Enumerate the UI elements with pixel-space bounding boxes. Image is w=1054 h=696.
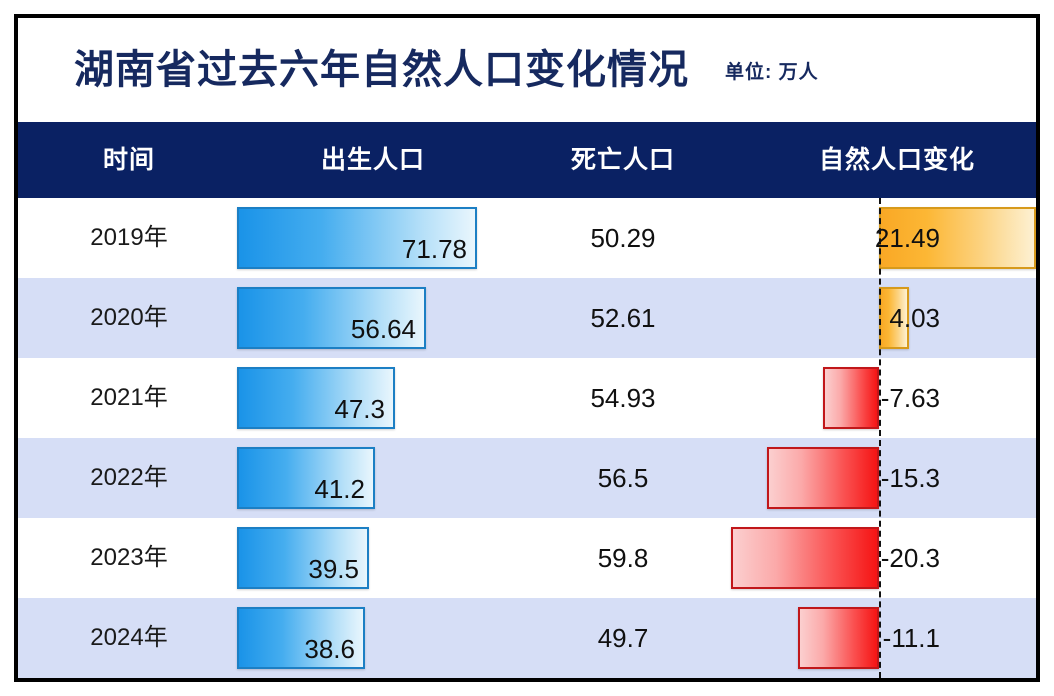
net-bar-negative [823,367,879,429]
column-header-net: 自然人口变化 [758,122,1036,198]
net-value: -15.3 [881,438,940,518]
cell-net: 21.49 [18,198,1036,278]
title-band: 湖南省过去六年自然人口变化情况 单位: 万人 [18,18,1036,122]
net-value: 21.49 [875,198,940,278]
table-row: 2023年 39.5 59.8 -20.3 [18,518,1036,598]
cell-net: 4.03 [18,278,1036,358]
net-value: 4.03 [889,278,940,358]
net-bar-negative [767,447,879,509]
column-header-time: 时间 [34,122,224,198]
net-bar-negative [731,527,879,589]
net-bar-negative [798,607,879,669]
column-header-death: 死亡人口 [498,122,748,198]
page-title: 湖南省过去六年自然人口变化情况 [74,50,689,90]
table-row: 2024年 38.6 49.7 -11.1 [18,598,1036,678]
cell-net: -15.3 [18,438,1036,518]
column-header-birth: 出生人口 [238,122,508,198]
table-header-row: 时间 出生人口 死亡人口 自然人口变化 [18,122,1036,198]
net-value: -11.1 [883,598,940,678]
table-row: 2019年 71.78 50.29 21.49 [18,198,1036,278]
net-value: -20.3 [881,518,940,598]
table-row: 2022年 41.2 56.5 -15.3 [18,438,1036,518]
table-row: 2021年 47.3 54.93 -7.63 [18,358,1036,438]
cell-net: -11.1 [18,598,1036,678]
infographic-table: 湖南省过去六年自然人口变化情况 单位: 万人 时间 出生人口 死亡人口 自然人口… [0,0,1054,696]
cell-net: -7.63 [18,358,1036,438]
table-row: 2020年 56.64 52.61 4.03 [18,278,1036,358]
net-value: -7.63 [881,358,940,438]
table-body: 2019年 71.78 50.29 21.49 2020年 56.64 [18,198,1036,678]
unit-label: 单位: 万人 [725,57,819,84]
cell-net: -20.3 [18,518,1036,598]
outer-frame: 湖南省过去六年自然人口变化情况 单位: 万人 时间 出生人口 死亡人口 自然人口… [14,14,1040,682]
